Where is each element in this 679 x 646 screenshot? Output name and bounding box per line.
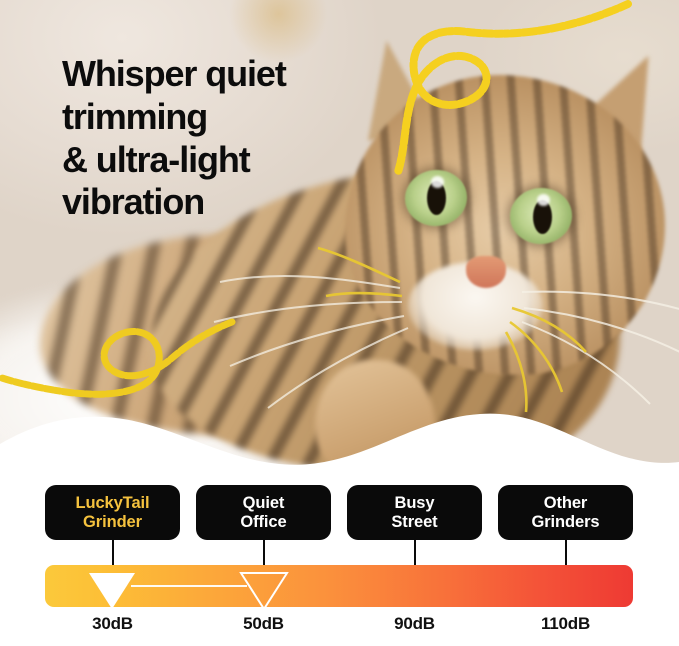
headline-line-4: vibration bbox=[62, 181, 392, 224]
yellow-loop-squiggle-icon bbox=[2, 322, 232, 394]
headline-line-2: trimming bbox=[62, 96, 392, 139]
headline-line-3: & ultra-light bbox=[62, 139, 392, 182]
badge-other-grinders[interactable]: Other Grinders bbox=[498, 485, 633, 540]
badge-line-1: Other bbox=[544, 494, 588, 512]
badge-line-1: Busy bbox=[395, 494, 435, 512]
db-tick-90: 90dB bbox=[347, 614, 482, 640]
badge-luckytail-grinder[interactable]: LuckyTail Grinder bbox=[45, 485, 180, 540]
badge-busy-street[interactable]: Busy Street bbox=[347, 485, 482, 540]
page-title: Whisper quiet trimming & ultra-light vib… bbox=[62, 53, 392, 224]
ad-creative: Whisper quiet trimming & ultra-light vib… bbox=[0, 0, 679, 646]
wave-divider bbox=[0, 400, 679, 470]
connector-line-quiet-office bbox=[263, 540, 265, 565]
badge-line-1: LuckyTail bbox=[76, 494, 150, 512]
badge-line-1: Quiet bbox=[243, 494, 285, 512]
connector-line-busy-street bbox=[414, 540, 416, 565]
connector-line-other-grinders bbox=[565, 540, 567, 565]
connector-line-luckytail bbox=[112, 540, 114, 565]
db-tick-row: 30dB 50dB 90dB 110dB bbox=[45, 614, 633, 640]
scale-badge-row: LuckyTail Grinder Quiet Office Busy Stre… bbox=[45, 485, 633, 540]
yellow-squiggle-icon bbox=[398, 4, 628, 172]
badge-quiet-office[interactable]: Quiet Office bbox=[196, 485, 331, 540]
badge-line-2: Grinders bbox=[532, 513, 600, 531]
db-tick-110: 110dB bbox=[498, 614, 633, 640]
badge-line-2: Grinder bbox=[83, 513, 142, 531]
noise-gradient-bar bbox=[45, 565, 633, 607]
headline-line-1: Whisper quiet bbox=[62, 53, 392, 96]
db-tick-30: 30dB bbox=[45, 614, 180, 640]
badge-line-2: Office bbox=[240, 513, 286, 531]
db-tick-50: 50dB bbox=[196, 614, 331, 640]
badge-line-2: Street bbox=[391, 513, 437, 531]
